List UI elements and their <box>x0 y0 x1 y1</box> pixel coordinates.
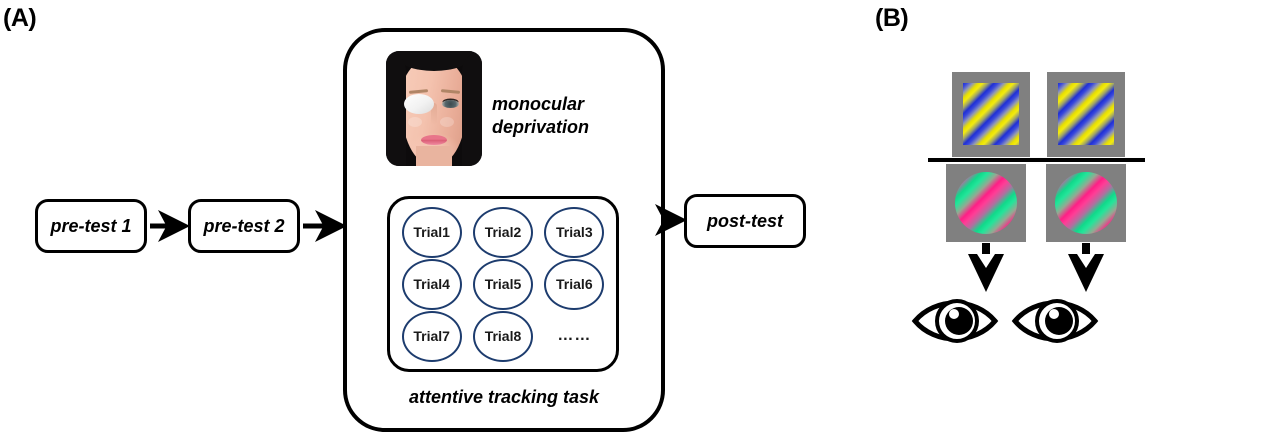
trial-circle[interactable]: Trial5 <box>473 259 533 310</box>
hair-left <box>386 51 406 166</box>
trials-continuation: …… <box>557 327 591 345</box>
pre-test-2-label: pre-test 2 <box>203 216 284 237</box>
arrow-to-right-eye <box>1068 243 1104 292</box>
trial-label: Trial8 <box>485 328 522 344</box>
trial-circle[interactable]: Trial2 <box>473 207 533 258</box>
hair-right <box>462 51 482 166</box>
grating-bottom-left <box>955 172 1017 234</box>
trial-label: Trial5 <box>485 276 522 292</box>
lips <box>421 135 447 145</box>
trial-label: Trial3 <box>556 224 593 240</box>
trial-circle[interactable]: Trial4 <box>402 259 462 310</box>
grating-bottom-right <box>1055 172 1117 234</box>
pre-test-2-box: pre-test 2 <box>188 199 300 253</box>
eye-patch-icon <box>404 94 434 114</box>
cheek-highlight-right <box>440 117 454 127</box>
trial-circle[interactable]: Trial3 <box>544 207 604 258</box>
trial-label: Trial4 <box>413 276 450 292</box>
trial-circle[interactable]: Trial1 <box>402 207 462 258</box>
trial-label: Trial6 <box>556 276 593 292</box>
grating-bottom-left-tile <box>946 164 1026 242</box>
trial-label: Trial1 <box>413 224 450 240</box>
trial-circle[interactable]: Trial7 <box>402 311 462 362</box>
trial-label: Trial7 <box>413 328 450 344</box>
panel-a-label: (A) <box>3 4 36 33</box>
pre-test-1-box: pre-test 1 <box>35 199 147 253</box>
eye-left-icon <box>915 301 995 341</box>
post-test-label: post-test <box>707 211 783 232</box>
open-eye <box>442 100 459 108</box>
trials-grid: Trial1 Trial2 Trial3 Trial4 Trial5 Trial… <box>396 206 610 362</box>
grating-top-right <box>1058 83 1114 145</box>
grating-top-left-tile <box>952 72 1030 157</box>
trial-circle[interactable]: Trial6 <box>544 259 604 310</box>
trial-circle[interactable]: Trial8 <box>473 311 533 362</box>
attentive-tracking-trials-panel: Trial1 Trial2 Trial3 Trial4 Trial5 Trial… <box>387 196 619 372</box>
post-test-box: post-test <box>684 194 806 248</box>
eye-right-icon <box>1015 301 1095 341</box>
face-with-eye-patch-image <box>386 51 482 166</box>
face-neck <box>416 146 452 166</box>
monocular-deprivation-caption: monocular deprivation <box>492 93 617 138</box>
trial-label: Trial2 <box>485 224 522 240</box>
attentive-tracking-task-caption: attentive tracking task <box>343 387 665 408</box>
grating-top-right-tile <box>1047 72 1125 157</box>
monocular-deprivation-caption-line2: deprivation <box>492 116 617 139</box>
pre-test-1-label: pre-test 1 <box>50 216 131 237</box>
cheek-highlight-left <box>408 117 422 127</box>
grating-top-left <box>963 83 1019 145</box>
grating-bottom-right-tile <box>1046 164 1126 242</box>
arrow-to-left-eye <box>968 243 1004 292</box>
figure-root: (A) pre-test 1 pre-test 2 post-test mono… <box>0 0 1268 443</box>
fusion-divider-line <box>928 158 1145 162</box>
hair-top <box>396 51 472 71</box>
panel-b-label: (B) <box>875 4 908 33</box>
monocular-deprivation-caption-line1: monocular <box>492 93 617 116</box>
